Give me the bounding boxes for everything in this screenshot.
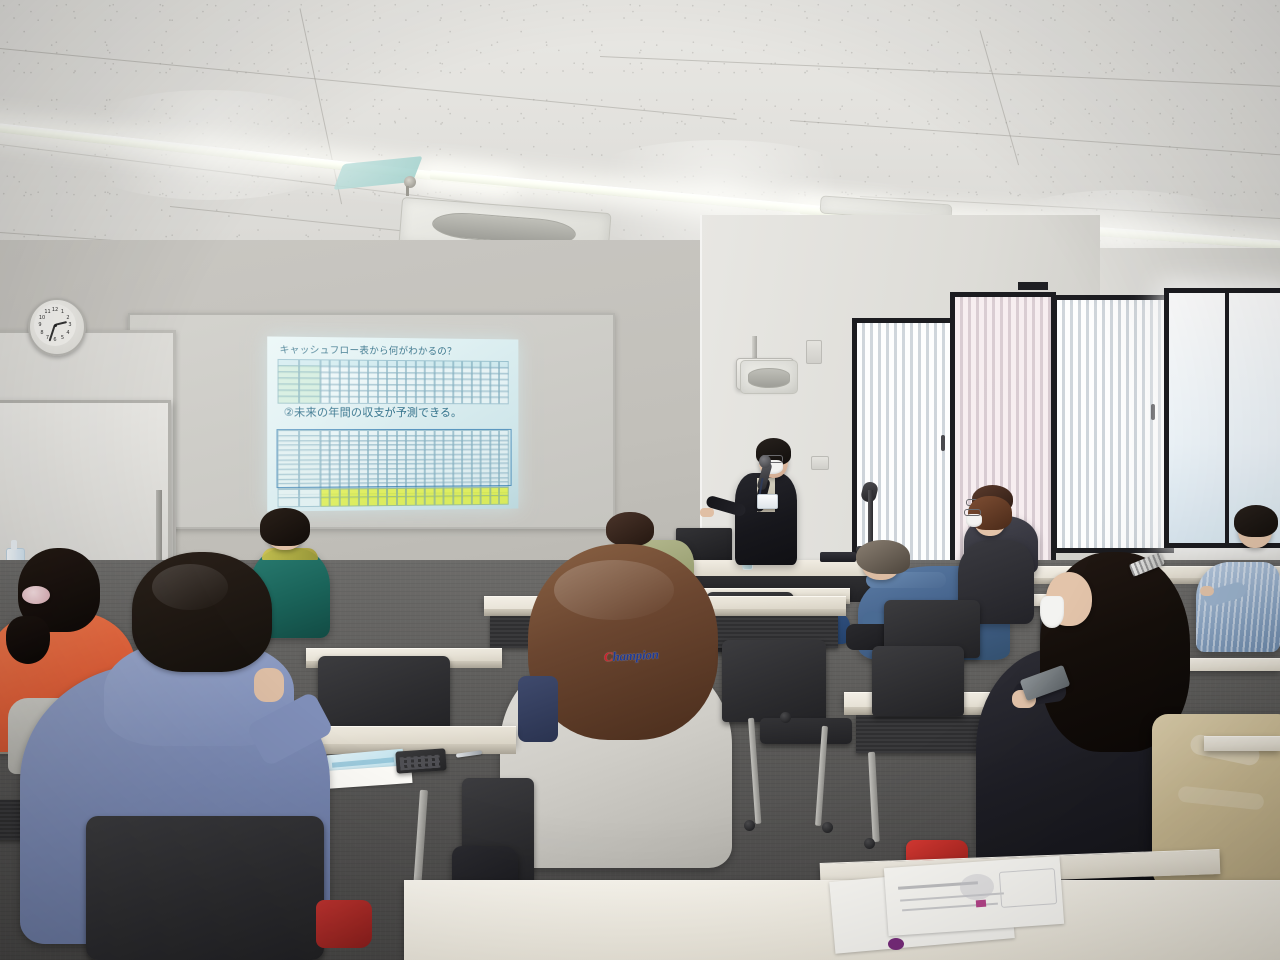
attendee-teal-hair <box>260 508 310 546</box>
desk-far-right-lower <box>1204 736 1280 751</box>
attendee-denim-hair <box>856 540 910 574</box>
clock-numeral: 2 <box>64 315 72 321</box>
shirt-stripes <box>1196 562 1280 652</box>
champion-logo-text: hampion <box>612 647 659 664</box>
name-badge <box>757 494 778 509</box>
window-mullion <box>1225 293 1229 543</box>
chair-back[interactable] <box>318 656 450 734</box>
chair-caster <box>822 822 833 833</box>
window-handle[interactable] <box>1151 404 1155 420</box>
chair-back[interactable] <box>722 640 826 722</box>
attendee-champion-sleeve <box>518 676 558 742</box>
wall-sensor <box>806 340 822 364</box>
clock-numeral: 6 <box>51 337 59 343</box>
clock-face: 121234567891011 <box>34 304 76 346</box>
attendee-blue-hoodie-hand <box>254 668 284 702</box>
chair-back[interactable] <box>86 816 324 960</box>
attendee-olive-hair <box>606 512 654 546</box>
window-handle[interactable] <box>941 435 945 451</box>
attendee-stripe-hair <box>1234 505 1278 537</box>
window-right <box>1052 295 1174 553</box>
teal-collar-trim <box>262 548 318 560</box>
microphone-stand <box>868 490 873 548</box>
presenter-hand <box>700 508 714 517</box>
projected-slide: キャッシュフロー表から何がわかるの？ ②未来の年間の収支が予測できる。 <box>267 336 518 511</box>
chair-caster <box>744 820 755 831</box>
clock-numeral: 9 <box>36 322 44 328</box>
clock-numeral: 3 <box>66 322 74 328</box>
microphone-capsule-icon <box>759 455 771 468</box>
calculator-keys[interactable] <box>400 755 441 771</box>
projector-mount <box>752 336 757 360</box>
desk-row2-far-right <box>1176 658 1280 671</box>
sprinkler-stem <box>406 186 409 196</box>
hair-scrunchie <box>22 586 50 604</box>
clock-numeral: 11 <box>44 309 52 315</box>
window-header-band <box>1018 282 1048 290</box>
face-mask <box>1040 596 1064 628</box>
glasses <box>964 509 981 516</box>
desk-object <box>888 938 904 950</box>
ac-vent-grille <box>748 368 790 388</box>
red-item-on-floor <box>316 900 372 948</box>
ponytail <box>6 616 50 664</box>
champion-logo: Champion <box>604 647 660 666</box>
chair-back[interactable] <box>872 646 964 716</box>
stage-remote[interactable] <box>820 552 856 562</box>
clock-numeral: 8 <box>38 330 46 336</box>
chair-seat[interactable] <box>760 718 852 744</box>
wall-clock: 121234567891011 <box>28 298 86 356</box>
handout-accent <box>976 900 986 908</box>
seminar-room-photo: キャッシュフロー表から何がわかるの？ ②未来の年間の収支が予測できる。 1212… <box>0 0 1280 960</box>
clock-numeral: 10 <box>38 315 46 321</box>
hair-highlight <box>152 564 228 610</box>
projection-sheen <box>267 336 518 511</box>
desk-caster <box>864 838 875 849</box>
handout-figure-box <box>999 868 1057 908</box>
wall-outlet <box>811 456 829 470</box>
clock-center-pin <box>54 324 57 327</box>
chair-caster <box>780 712 791 723</box>
hair-highlight <box>554 560 674 620</box>
window-blinds[interactable] <box>1057 300 1169 548</box>
sanitizer-pump[interactable] <box>11 540 17 550</box>
clock-numeral: 5 <box>59 335 67 341</box>
attendee-stripe-hand <box>1200 586 1214 596</box>
